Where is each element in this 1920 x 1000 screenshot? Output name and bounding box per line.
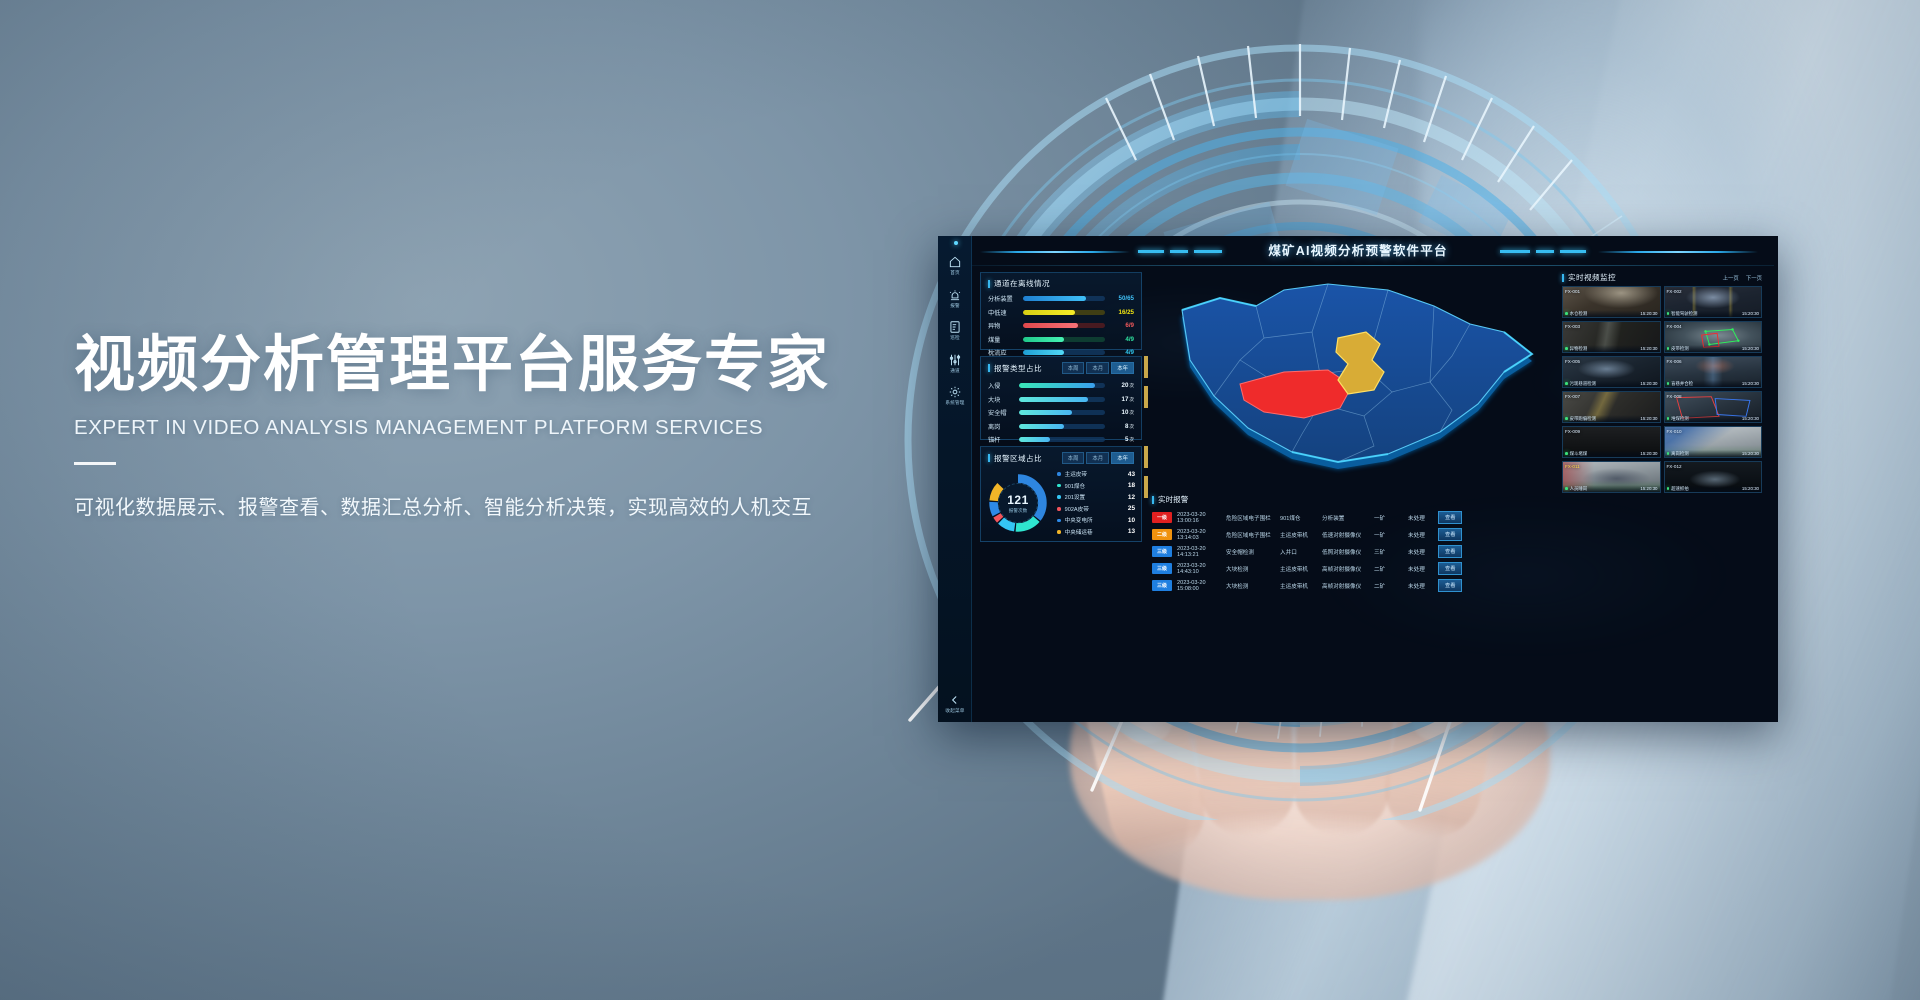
alarm-mine: 二矿 xyxy=(1374,565,1408,573)
alarm-type-title: 报警类型占比 xyxy=(994,363,1042,374)
video-tile[interactable]: FX-011 人员睡岗 15:20:30 xyxy=(1562,461,1661,493)
video-tile[interactable]: FX-007 皮带跑偏检测 15:20:30 xyxy=(1562,391,1661,423)
channel-panel-title: 通道在离线情况 xyxy=(994,278,1050,289)
alarm-type-track xyxy=(1019,397,1105,402)
donut-center: 121 报警次数 xyxy=(998,483,1038,523)
panel-accent-4 xyxy=(1144,476,1148,498)
video-time: 15:20:30 xyxy=(1742,486,1759,491)
video-panel-header: 实时视频监控 上一页 下一页 xyxy=(1562,272,1762,283)
header-deco-right xyxy=(1598,251,1758,253)
alarm-type-row: 大块 17次 xyxy=(988,395,1134,404)
video-id: FX-001 xyxy=(1565,289,1580,294)
video-time: 15:20:30 xyxy=(1640,346,1657,351)
alarm-type: 危险区域电子围栏 xyxy=(1226,531,1280,539)
alarm-type-tabs: 本周 本月 本年 xyxy=(1062,362,1134,374)
legend-value: 13 xyxy=(1119,528,1135,535)
status-dot-icon xyxy=(1667,452,1670,455)
tab-year[interactable]: 本年 xyxy=(1111,362,1134,374)
legend-value: 25 xyxy=(1119,505,1135,512)
legend-name: 中央变电所 xyxy=(1065,516,1119,524)
video-status: 超速抓拍 xyxy=(1667,486,1689,492)
alarm-device: 高帧对射摄像仪 xyxy=(1322,565,1374,573)
alarm-type-label: 安全帽 xyxy=(988,408,1014,417)
alarm-status: 未处理 xyxy=(1408,548,1438,556)
video-id: FX-011 xyxy=(1565,464,1580,469)
alarm-type-track xyxy=(1019,383,1105,388)
alarm-status: 未处理 xyxy=(1408,514,1438,522)
alarm-type: 危险区域电子围栏 xyxy=(1226,514,1280,522)
title-marker-icon xyxy=(988,280,990,288)
dashboard-header: 煤矿AI视频分析预警软件平台 xyxy=(938,236,1778,266)
alarm-time: 2023-03-20 13:00:16 xyxy=(1172,512,1226,524)
channel-bar-fill xyxy=(1023,310,1075,315)
status-dot-icon xyxy=(1667,382,1670,385)
legend-dot-icon xyxy=(1057,530,1061,534)
hero-subtitle: EXPERT IN VIDEO ANALYSIS MANAGEMENT PLAT… xyxy=(74,416,954,440)
alarm-type-bar-list: 入侵 20次 大块 17次 安全帽 10次 离岗 8次 锚杆 xyxy=(981,376,1141,448)
channel-bar-track xyxy=(1023,323,1105,328)
video-monitor-panel: 实时视频监控 上一页 下一页 FX-001 水仓检测 15:20:30 FX- xyxy=(1562,272,1762,493)
sidebar-label-collapse: 收起菜单 xyxy=(938,709,972,714)
status-dot-icon xyxy=(1565,487,1568,490)
alarm-area-header: 报警区域占比 本周 本月 本年 xyxy=(981,447,1141,466)
channel-bar-value: 6/9 xyxy=(1110,322,1134,329)
legend-dot-icon xyxy=(1057,472,1061,476)
header-rule xyxy=(972,265,1774,266)
video-footer: 盲巷并合检 15:20:30 xyxy=(1665,380,1762,387)
video-tile[interactable]: FX-005 污现巷道检测 15:20:30 xyxy=(1562,356,1661,388)
sidebar-item-home[interactable]: 首页 xyxy=(938,248,972,281)
legend-name: 201设置 xyxy=(1065,493,1119,501)
alarm-type-track xyxy=(1019,410,1105,415)
legend-value: 12 xyxy=(1119,494,1135,501)
alarm-status: 未处理 xyxy=(1408,565,1438,573)
tab-week[interactable]: 本周 xyxy=(1062,452,1085,464)
channel-bar-value: 4/9 xyxy=(1110,336,1134,343)
video-footer: 智能驾驶检测 15:20:30 xyxy=(1665,310,1762,317)
sidebar-label-inspection: 巡检 xyxy=(938,336,972,341)
sidebar-label-channel: 通道 xyxy=(938,369,972,374)
legend-item: 中央储运巷 13 xyxy=(1057,528,1135,536)
video-footer: 人员睡岗 15:20:30 xyxy=(1563,485,1660,492)
channel-bar-label: 中低速 xyxy=(988,308,1018,317)
alarm-area-legend: 主运皮带 43 901煤仓 18 201设置 12 902A皮带 25 xyxy=(1051,470,1135,536)
video-id: FX-003 xyxy=(1565,324,1580,329)
sidebar-item-settings[interactable]: 系统管理 xyxy=(938,378,972,411)
legend-value: 43 xyxy=(1119,471,1135,478)
sidebar-item-channel[interactable]: 通道 xyxy=(938,346,972,379)
dashboard-screen: 煤矿AI视频分析预警软件平台 首页 报警 巡检 xyxy=(938,236,1778,722)
alarm-mine: 一矿 xyxy=(1374,531,1408,539)
video-time: 15:20:30 xyxy=(1742,451,1759,456)
alarm-mine: 三矿 xyxy=(1374,548,1408,556)
alarm-type-fill xyxy=(1019,437,1050,442)
sidebar-item-alarm[interactable]: 报警 xyxy=(938,281,972,314)
alarm-type-fill xyxy=(1019,410,1072,415)
video-status: 皮带检测 xyxy=(1667,346,1689,352)
legend-value: 18 xyxy=(1119,482,1135,489)
video-status: 离岗检测 xyxy=(1667,451,1689,457)
collapse-icon xyxy=(948,693,962,707)
table-row[interactable]: 二级 2023-03-20 13:14:03 危险区域电子围栏 主运皮带机 低速… xyxy=(1152,526,1552,543)
dashboard-title: 煤矿AI视频分析预警软件平台 xyxy=(938,240,1778,259)
view-button[interactable]: 查看 xyxy=(1438,545,1462,557)
status-dot-icon xyxy=(1565,347,1568,350)
channel-bar-fill xyxy=(1023,337,1064,342)
video-panel-title-wrap: 实时视频监控 xyxy=(1562,272,1616,283)
alarm-level-badge: 三级 xyxy=(1152,580,1172,590)
status-dot-icon xyxy=(1667,347,1670,350)
tab-month[interactable]: 本月 xyxy=(1086,362,1109,374)
video-id: FX-007 xyxy=(1565,394,1580,399)
tab-year[interactable]: 本年 xyxy=(1111,452,1134,464)
video-tile[interactable]: FX-002 智能驾驶检测 15:20:30 xyxy=(1664,286,1763,318)
alarm-mine: 二矿 xyxy=(1374,582,1408,590)
channel-bar-track xyxy=(1023,337,1105,342)
video-status: 水仓检测 xyxy=(1565,311,1587,317)
legend-item: 902A皮带 25 xyxy=(1057,505,1135,513)
legend-name: 主运皮带 xyxy=(1065,470,1119,478)
sidebar-item-inspection[interactable]: 巡检 xyxy=(938,313,972,346)
video-tile[interactable]: FX-010 离岗检测 15:20:30 xyxy=(1664,426,1763,458)
channel-panel-title-wrap: 通道在离线情况 xyxy=(988,278,1050,289)
channel-bar-label: 分析装置 xyxy=(988,294,1018,303)
title-marker-icon xyxy=(1152,496,1154,504)
tab-month[interactable]: 本月 xyxy=(1086,452,1109,464)
channel-bar-fill xyxy=(1023,296,1086,301)
video-status: 煤斗堵煤 xyxy=(1565,451,1587,457)
table-row[interactable]: 三级 2023-03-20 14:43:10 大块检测 主运皮带机 高帧对射摄像… xyxy=(1152,560,1552,577)
channel-icon xyxy=(948,353,962,367)
video-id: FX-012 xyxy=(1667,464,1682,469)
video-status: 智能驾驶检测 xyxy=(1667,311,1698,317)
alarm-type: 大块检测 xyxy=(1226,565,1280,573)
alarm-location: 入井口 xyxy=(1280,548,1322,556)
video-time: 15:20:30 xyxy=(1742,346,1759,351)
prev-page-button[interactable]: 上一页 xyxy=(1723,274,1739,282)
channel-bar-track xyxy=(1023,350,1105,355)
video-tile[interactable]: FX-008 堆煤检测 15:20:30 xyxy=(1664,391,1763,423)
legend-dot-icon xyxy=(1057,519,1061,523)
video-tile[interactable]: FX-001 水仓检测 15:20:30 xyxy=(1562,286,1661,318)
legend-item: 中央变电所 10 xyxy=(1057,516,1135,524)
alarm-device: 高帧对射摄像仪 xyxy=(1322,582,1374,590)
hero-copy: 视频分析管理平台服务专家 EXPERT IN VIDEO ANALYSIS MA… xyxy=(74,330,954,520)
alarm-device: 低速对射摄像仪 xyxy=(1322,531,1374,539)
alarm-type-value: 20次 xyxy=(1110,382,1134,389)
realtime-alarm-header: 实时报警 xyxy=(1152,494,1552,505)
alarm-type-unit: 次 xyxy=(1129,383,1134,388)
status-dot-icon xyxy=(1667,487,1670,490)
video-footer: 异物检测 15:20:30 xyxy=(1563,345,1660,352)
alarm-level-badge: 三级 xyxy=(1152,546,1172,556)
alarm-type-value: 8次 xyxy=(1110,423,1134,430)
channel-bar-list: 分析装置 50/65 中低速 16/25 异物 6/9 煤量 4/9 枕流应 xyxy=(981,291,1141,361)
video-panel-title: 实时视频监控 xyxy=(1568,272,1616,283)
sidebar: 首页 报警 巡检 通道 系统管理 xyxy=(938,236,972,722)
video-footer: 堆煤检测 15:20:30 xyxy=(1665,415,1762,422)
alarm-type-fill xyxy=(1019,383,1095,388)
alarm-type-value: 10次 xyxy=(1110,409,1134,416)
panel-accent-3 xyxy=(1144,446,1148,468)
next-page-button[interactable]: 下一页 xyxy=(1746,274,1762,282)
hero-description: 可视化数据展示、报警查看、数据汇总分析、智能分析决策，实现高效的人机交互 xyxy=(74,491,954,520)
video-footer: 水仓检测 15:20:30 xyxy=(1563,310,1660,317)
alarm-type-label: 入侵 xyxy=(988,381,1014,390)
donut-total-label: 报警次数 xyxy=(1009,508,1027,514)
sidebar-label-alarm: 报警 xyxy=(938,304,972,309)
alarm-location: 主运皮带机 xyxy=(1280,565,1322,573)
sidebar-collapse[interactable]: 收起菜单 xyxy=(938,693,972,714)
video-tile[interactable]: FX-003 异物检测 15:20:30 xyxy=(1562,321,1661,353)
header-dash-4 xyxy=(1500,250,1530,253)
region-map[interactable] xyxy=(1152,276,1544,488)
status-dot-icon xyxy=(1565,417,1568,420)
alarm-type-row: 入侵 20次 xyxy=(988,381,1134,390)
panel-accent-2 xyxy=(1144,386,1148,408)
status-dot-icon xyxy=(1667,312,1670,315)
legend-name: 902A皮带 xyxy=(1065,505,1119,513)
table-row[interactable]: 三级 2023-03-20 14:13:21 安全帽检测 入井口 低照对射摄像仪… xyxy=(1152,543,1552,560)
table-row[interactable]: 三级 2023-03-20 15:08:00 大块检测 主运皮带机 高帧对射摄像… xyxy=(1152,577,1552,594)
channel-bar-label: 煤量 xyxy=(988,335,1018,344)
video-id: FX-009 xyxy=(1565,429,1580,434)
alarm-device: 低照对射摄像仪 xyxy=(1322,548,1374,556)
video-id: FX-004 xyxy=(1667,324,1682,329)
alarm-type-row: 离岗 8次 xyxy=(988,422,1134,431)
video-time: 15:20:30 xyxy=(1742,416,1759,421)
video-time: 15:20:30 xyxy=(1640,311,1657,316)
view-button[interactable]: 查看 xyxy=(1438,562,1462,574)
alarm-type-label: 离岗 xyxy=(988,422,1014,431)
video-grid: FX-001 水仓检测 15:20:30 FX-002 智能驾驶检测 15:20… xyxy=(1562,286,1762,493)
alarm-status: 未处理 xyxy=(1408,531,1438,539)
title-marker-icon xyxy=(988,364,990,372)
alarm-area-title: 报警区域占比 xyxy=(994,453,1042,464)
header-dash-5 xyxy=(1536,250,1554,253)
page-title: 视频分析管理平台服务专家 xyxy=(74,330,954,398)
video-status: 异物检测 xyxy=(1565,346,1587,352)
alarm-location: 主运皮带机 xyxy=(1280,531,1322,539)
legend-dot-icon xyxy=(1057,495,1061,499)
alarm-device: 分析装置 xyxy=(1322,514,1374,522)
alarm-time: 2023-03-20 15:08:00 xyxy=(1172,580,1226,592)
alarm-type-value: 17次 xyxy=(1110,396,1134,403)
alarm-level-badge: 二级 xyxy=(1152,529,1172,539)
donut-total-value: 121 xyxy=(1007,493,1029,507)
alarm-area-donut[interactable]: 121 报警次数 xyxy=(985,470,1051,536)
realtime-alarm-title: 实时报警 xyxy=(1158,494,1188,505)
video-time: 15:20:30 xyxy=(1640,486,1657,491)
sidebar-label-home: 首页 xyxy=(938,271,972,276)
channel-bar-row: 中低速 16/25 xyxy=(988,308,1134,317)
legend-item: 主运皮带 43 xyxy=(1057,470,1135,478)
alarm-time: 2023-03-20 14:13:21 xyxy=(1172,546,1226,558)
alarm-type-fill xyxy=(1019,397,1088,402)
alarm-type-header: 报警类型占比 本周 本月 本年 xyxy=(981,357,1141,376)
alarm-area-tabs: 本周 本月 本年 xyxy=(1062,452,1134,464)
status-dot-icon xyxy=(1565,452,1568,455)
channel-bar-fill xyxy=(1023,323,1078,328)
alarm-type-label: 大块 xyxy=(988,395,1014,404)
channel-bar-row: 分析装置 50/65 xyxy=(988,294,1134,303)
video-footer: 皮带检测 15:20:30 xyxy=(1665,345,1762,352)
alarm-mine: 一矿 xyxy=(1374,514,1408,522)
legend-name: 中央储运巷 xyxy=(1065,528,1119,536)
alarm-type-value: 5次 xyxy=(1110,436,1134,443)
map-svg xyxy=(1152,276,1544,488)
legend-item: 901煤仓 18 xyxy=(1057,482,1135,490)
legend-dot-icon xyxy=(1057,507,1061,511)
view-button[interactable]: 查看 xyxy=(1438,511,1462,523)
video-footer: 煤斗堵煤 15:20:30 xyxy=(1563,450,1660,457)
channel-bar-value: 50/65 xyxy=(1110,295,1134,302)
video-status: 污现巷道检测 xyxy=(1565,381,1596,387)
table-row[interactable]: 一级 2023-03-20 13:00:16 危险区域电子围栏 901煤仓 分析… xyxy=(1152,509,1552,526)
channel-bar-track xyxy=(1023,296,1105,301)
alarm-time: 2023-03-20 13:14:03 xyxy=(1172,529,1226,541)
alarm-level-badge: 三级 xyxy=(1152,563,1172,573)
video-time: 15:20:30 xyxy=(1742,311,1759,316)
video-status: 堆煤检测 xyxy=(1667,416,1689,422)
alarm-area-title-wrap: 报警区域占比 xyxy=(988,453,1042,464)
alarm-area-panel: 报警区域占比 本周 本月 本年 xyxy=(980,446,1142,542)
alarm-type-track xyxy=(1019,424,1105,429)
view-button[interactable]: 查看 xyxy=(1438,528,1462,540)
legend-name: 901煤仓 xyxy=(1065,482,1119,490)
inspection-icon xyxy=(948,320,962,334)
alarm-icon xyxy=(948,288,962,302)
settings-icon xyxy=(948,385,962,399)
status-dot-icon xyxy=(1565,382,1568,385)
home-icon xyxy=(948,255,962,269)
panel-accent-1 xyxy=(1144,356,1148,378)
channel-bar-row: 煤量 4/9 xyxy=(988,335,1134,344)
hero-divider xyxy=(74,462,116,465)
video-footer: 离岗检测 15:20:30 xyxy=(1665,450,1762,457)
video-id: FX-006 xyxy=(1667,359,1682,364)
video-footer: 皮带跑偏检测 15:20:30 xyxy=(1563,415,1660,422)
title-marker-icon xyxy=(988,454,990,462)
alarm-level-badge: 一级 xyxy=(1152,512,1172,522)
video-footer: 超速抓拍 15:20:30 xyxy=(1665,485,1762,492)
video-time: 15:20:30 xyxy=(1640,451,1657,456)
alarm-type-row: 安全帽 10次 xyxy=(988,408,1134,417)
channel-bar-value: 16/25 xyxy=(1110,309,1134,316)
sidebar-label-settings: 系统管理 xyxy=(938,401,972,406)
alarm-type: 安全帽检测 xyxy=(1226,548,1280,556)
channel-bar-row: 异物 6/9 xyxy=(988,321,1134,330)
channel-status-panel: 通道在离线情况 分析装置 50/65 中低速 16/25 异物 6/9 煤量 xyxy=(980,272,1142,350)
alarm-type-panel: 报警类型占比 本周 本月 本年 入侵 20次 大块 17次 安全帽 1 xyxy=(980,356,1142,440)
alarm-type-title-wrap: 报警类型占比 xyxy=(988,363,1042,374)
channel-bar-track xyxy=(1023,310,1105,315)
legend-item: 201设置 12 xyxy=(1057,493,1135,501)
video-id: FX-010 xyxy=(1667,429,1682,434)
video-id: FX-008 xyxy=(1667,394,1682,399)
video-status: 人员睡岗 xyxy=(1565,486,1587,492)
alarm-status: 未处理 xyxy=(1408,582,1438,590)
alarm-type-label: 锚杆 xyxy=(988,435,1014,444)
title-marker-icon xyxy=(1562,274,1564,282)
legend-dot-icon xyxy=(1057,484,1061,488)
alarm-time: 2023-03-20 14:43:10 xyxy=(1172,563,1226,575)
status-dot-icon xyxy=(1667,417,1670,420)
video-tile[interactable]: FX-004 皮带检测 15:20:30 xyxy=(1664,321,1763,353)
channel-panel-header: 通道在离线情况 xyxy=(981,273,1141,291)
alarm-type-track xyxy=(1019,437,1105,442)
video-time: 15:20:30 xyxy=(1640,416,1657,421)
channel-bar-fill xyxy=(1023,350,1064,355)
video-tile[interactable]: FX-012 超速抓拍 15:20:30 xyxy=(1664,461,1763,493)
video-id: FX-002 xyxy=(1667,289,1682,294)
video-tile[interactable]: FX-009 煤斗堵煤 15:20:30 xyxy=(1562,426,1661,458)
alarm-location: 901煤仓 xyxy=(1280,514,1322,522)
video-time: 15:20:30 xyxy=(1742,381,1759,386)
alarm-type-row: 锚杆 5次 xyxy=(988,435,1134,444)
view-button[interactable]: 查看 xyxy=(1438,579,1462,591)
header-dash-6 xyxy=(1560,250,1586,253)
video-pagination: 上一页 下一页 xyxy=(1723,274,1762,282)
realtime-alarm-table: 实时报警 一级 2023-03-20 13:00:16 危险区域电子围栏 901… xyxy=(1152,494,1552,594)
alarm-location: 主运皮带机 xyxy=(1280,582,1322,590)
video-id: FX-005 xyxy=(1565,359,1580,364)
video-footer: 污现巷道检测 15:20:30 xyxy=(1563,380,1660,387)
channel-bar-value: 4/9 xyxy=(1110,349,1134,356)
video-status: 皮带跑偏检测 xyxy=(1565,416,1596,422)
legend-value: 10 xyxy=(1119,517,1135,524)
video-time: 15:20:30 xyxy=(1640,381,1657,386)
video-tile[interactable]: FX-006 盲巷并合检 15:20:30 xyxy=(1664,356,1763,388)
tab-week[interactable]: 本周 xyxy=(1062,362,1085,374)
alarm-area-body: 121 报警次数 主运皮带 43 901煤仓 18 201设置 xyxy=(981,466,1141,540)
alarm-type: 大块检测 xyxy=(1226,582,1280,590)
channel-bar-label: 异物 xyxy=(988,321,1018,330)
video-status: 盲巷并合检 xyxy=(1667,381,1694,387)
sidebar-status-dot xyxy=(954,241,958,245)
alarm-type-fill xyxy=(1019,424,1064,429)
status-dot-icon xyxy=(1565,312,1568,315)
